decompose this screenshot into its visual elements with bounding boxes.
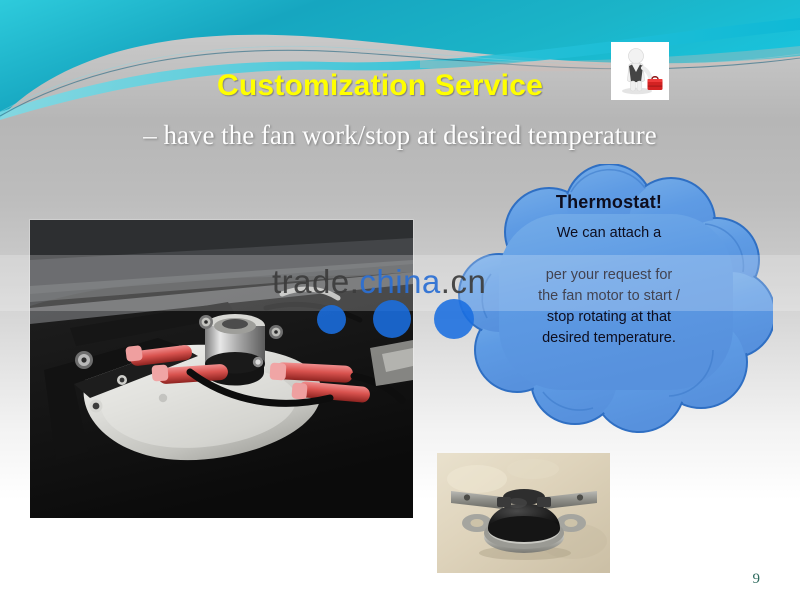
slide-subtitle: – have the fan work/stop at desired temp… [0,120,800,151]
presentation-slide: Customization Service – have the fan wor… [0,0,800,600]
callout-line-3: per your request for [470,265,748,286]
callout-line-4: the fan motor to start / [470,286,748,307]
watermark-dot-1 [317,305,346,334]
watermark-dot-3 [434,299,474,339]
callout-line-6: desired temperature. [470,328,748,349]
watermark-dot-2 [373,300,411,338]
thermostat-component-photo [437,453,610,573]
page-number: 9 [753,571,761,588]
callout-line-5: stop rotating at that [470,307,748,328]
callout-text-block: Thermostat! We can attach a thermostat p… [470,192,748,349]
worker-with-toolbox-icon [611,42,669,100]
fan-motor-thermostat-photo [30,220,413,518]
callout-heading: Thermostat! [470,192,748,213]
callout-line-1: We can attach a [470,223,748,244]
